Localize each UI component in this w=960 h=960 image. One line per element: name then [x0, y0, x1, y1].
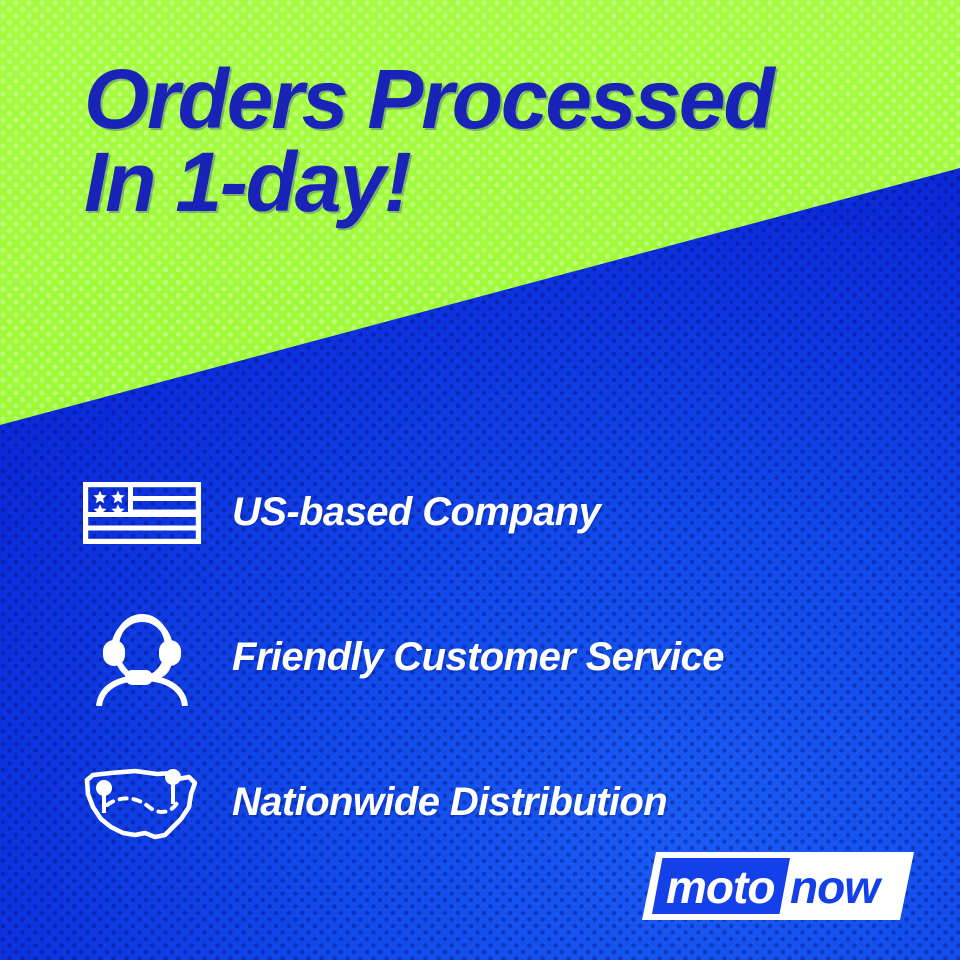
- logo-text-moto: moto: [666, 861, 774, 913]
- headline: Orders Processed In 1-day!: [84, 58, 960, 224]
- feature-item-customer-service: Friendly Customer Service: [72, 585, 902, 730]
- feature-label: US-based Company: [232, 490, 600, 535]
- motonow-logo[interactable]: moto now: [642, 852, 914, 920]
- us-map-pins-icon: [72, 761, 212, 845]
- feature-item-us-based: US-based Company: [72, 440, 902, 585]
- us-flag-icon: [72, 482, 212, 544]
- feature-label: Friendly Customer Service: [232, 635, 724, 680]
- feature-label: Nationwide Distribution: [232, 780, 667, 825]
- headset-icon: [72, 610, 212, 706]
- promo-graphic: Orders Processed In 1-day!: [0, 0, 960, 960]
- logo-text-now: now: [790, 861, 883, 913]
- feature-list: US-based Company: [72, 440, 902, 875]
